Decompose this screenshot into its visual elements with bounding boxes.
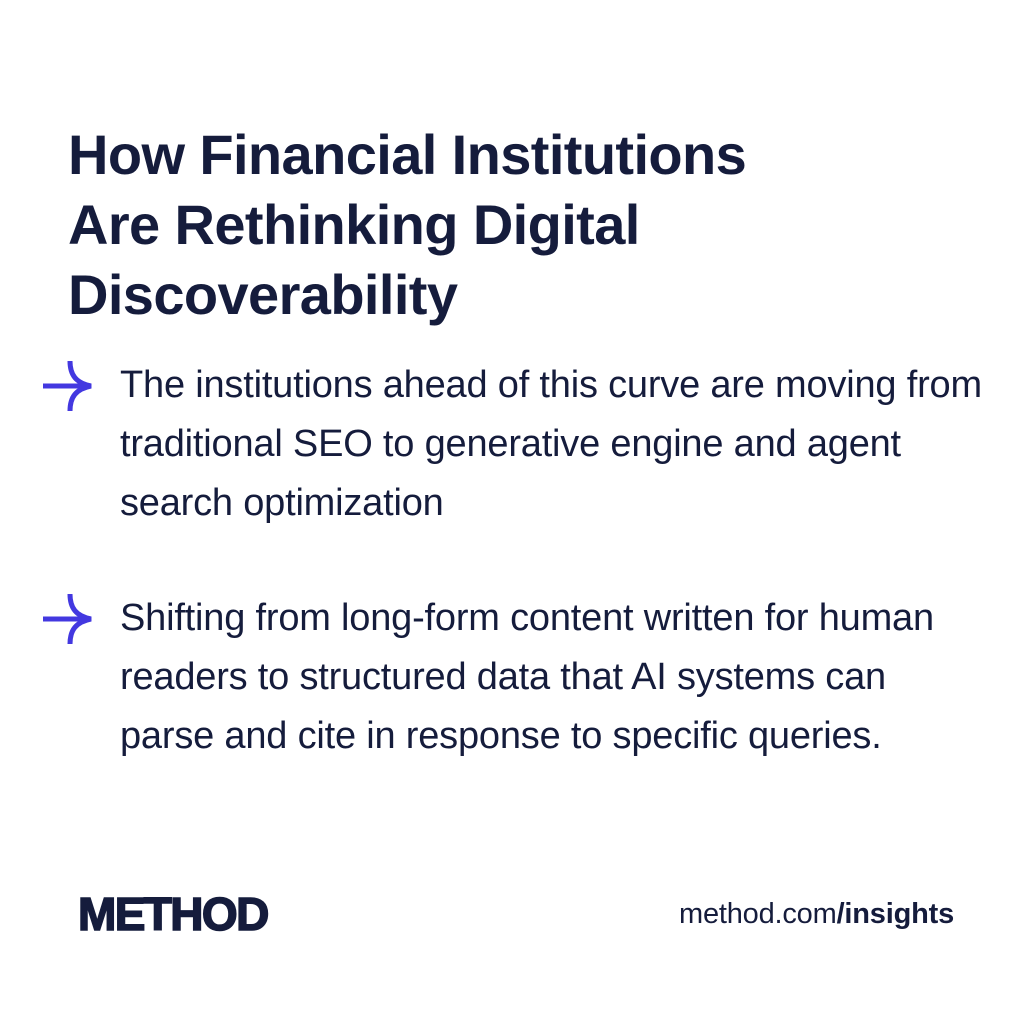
arrow-right-curve-icon xyxy=(40,359,100,413)
list-item: The institutions ahead of this curve are… xyxy=(40,356,990,533)
site-url-path: /insights xyxy=(837,898,954,930)
site-url: method.com/insights xyxy=(679,897,954,931)
arrow-right-curve-icon xyxy=(40,592,100,646)
headline-line-2: Are Rethinking Digital xyxy=(68,190,928,260)
social-card: How Financial Institutions Are Rethinkin… xyxy=(0,0,1024,1024)
headline-line-3: Discoverability xyxy=(68,260,928,330)
headline-line-1: How Financial Institutions xyxy=(68,120,928,190)
list-item-label: The institutions ahead of this curve are… xyxy=(120,356,990,533)
site-url-domain: method.com xyxy=(679,898,837,930)
list-item-label: Shifting from long-form content written … xyxy=(120,589,990,766)
brand-logo: METHOD xyxy=(78,891,268,937)
bullet-list: The institutions ahead of this curve are… xyxy=(40,356,990,766)
footer: METHOD method.com/insights xyxy=(0,884,1024,944)
list-item: Shifting from long-form content written … xyxy=(40,589,990,766)
page-title: How Financial Institutions Are Rethinkin… xyxy=(68,120,928,330)
